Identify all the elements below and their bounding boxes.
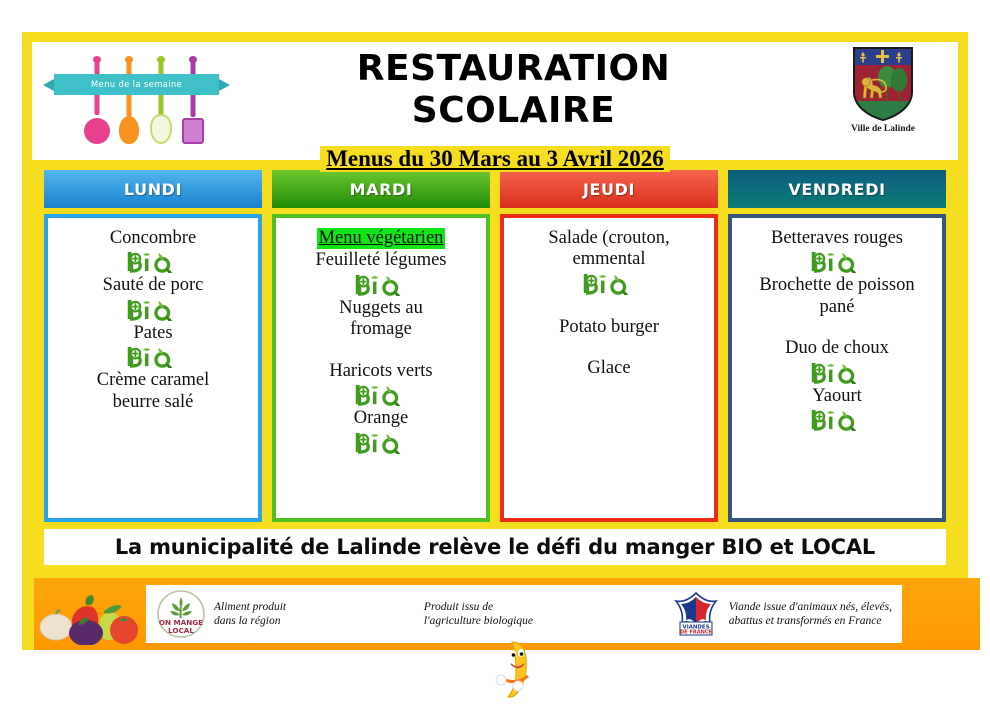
day-header-vendredi: VENDREDI <box>728 170 946 208</box>
city-name-label: Ville de Lalinde <box>851 124 915 134</box>
certification-viandes-text: Viande issue d'animaux nés, élevés, abat… <box>729 600 892 629</box>
day-header-jeudi: JEUDI <box>500 170 718 208</box>
menu-spacer <box>738 318 936 338</box>
menu-item: Glace <box>510 358 708 379</box>
title-block: RESTAURATION SCOLAIRE <box>219 42 808 133</box>
date-range: Menus du 30 Mars au 3 Avril 2026 <box>320 146 670 172</box>
bio-label-icon <box>510 272 708 295</box>
menu-item: emmental <box>510 249 708 270</box>
menu-spacer <box>510 297 708 317</box>
menu-poster: Menu de la semaine RESTAURATION SCOLAIRE… <box>22 32 968 650</box>
menu-column-lundi: ConcombreSauté de porcPatesCrème caramel… <box>44 214 262 522</box>
poster-header: Menu de la semaine RESTAURATION SCOLAIRE… <box>32 42 958 160</box>
menu-item: Potato burger <box>510 317 708 338</box>
menu-column-vendredi: Betteraves rougesBrochette de poissonpan… <box>728 214 946 522</box>
menu-column-mardi: Menu végétarienFeuilleté légumesNuggets … <box>272 214 490 522</box>
certification-viandes: VIANDES DE FRANCE Viande issue d'animaux… <box>671 589 892 639</box>
vegetables-illustration <box>34 583 146 645</box>
weekly-menu-ribbon: Menu de la semaine <box>54 74 219 95</box>
menu-item: Duo de choux <box>738 338 936 359</box>
menu-columns-row: ConcombreSauté de porcPatesCrème caramel… <box>32 214 958 522</box>
vegetarian-menu-tag: Menu végétarien <box>282 228 480 250</box>
menu-item: Crème caramel <box>54 370 252 391</box>
bio-label-icon <box>738 408 936 431</box>
bio-label-icon <box>282 383 480 406</box>
coat-of-arms-icon <box>852 46 914 122</box>
weekly-menu-logo: Menu de la semaine <box>54 48 219 148</box>
bio-label-icon <box>738 361 936 384</box>
spoon-icon <box>119 56 139 144</box>
menu-spacer <box>282 341 480 361</box>
bio-label-icon <box>282 431 480 454</box>
vegetarian-menu-label: Menu végétarien <box>317 228 446 249</box>
svg-text:DE FRANCE: DE FRANCE <box>680 630 712 636</box>
menu-item: Yaourt <box>738 386 936 407</box>
bio-label-icon <box>738 250 936 273</box>
certification-local-text: Aliment produit dans la région <box>214 600 286 629</box>
menu-item: Salade (crouton, <box>510 228 708 249</box>
slogan-banner: La municipalité de Lalinde relève le déf… <box>44 529 946 565</box>
whisk-icon <box>150 56 172 144</box>
bio-label-icon <box>54 298 252 321</box>
day-headers-row: LUNDI MARDI JEUDI VENDREDI <box>32 170 958 208</box>
menu-item: Haricots verts <box>282 361 480 382</box>
menu-spacer <box>510 338 708 358</box>
certification-local: ON MANGE LOCAL Aliment produit dans la r… <box>156 589 286 639</box>
viandes-de-france-icon: VIANDES DE FRANCE <box>671 589 721 639</box>
day-header-mardi: MARDI <box>272 170 490 208</box>
certification-bio: Produit issu de l'agriculture biologique <box>424 600 533 629</box>
menu-item: Sauté de porc <box>54 275 252 296</box>
city-crest-block: Ville de Lalinde <box>808 42 958 134</box>
menu-item: pané <box>738 297 936 318</box>
menu-column-jeudi: Salade (crouton,emmentalPotato burgerGla… <box>500 214 718 522</box>
certification-bio-text: Produit issu de l'agriculture biologique <box>424 600 533 629</box>
menu-item: Nuggets au <box>282 298 480 319</box>
page-title-line1: RESTAURATION <box>219 48 808 90</box>
ladle-icon <box>84 56 110 144</box>
menu-item: Feuilleté légumes <box>282 250 480 271</box>
menu-item: Betteraves rouges <box>738 228 936 249</box>
menu-item: Orange <box>282 408 480 429</box>
certifications-strip: ON MANGE LOCAL Aliment produit dans la r… <box>146 585 902 643</box>
menu-item: Pates <box>54 323 252 344</box>
bio-label-icon <box>54 250 252 273</box>
weekly-menu-label: Menu de la semaine <box>91 80 182 90</box>
ribbon-tail-right <box>219 79 230 91</box>
menu-item: Concombre <box>54 228 252 249</box>
menu-item: beurre salé <box>54 392 252 413</box>
on-mange-local-icon: ON MANGE LOCAL <box>156 589 206 639</box>
menu-item: Brochette de poisson <box>738 275 936 296</box>
day-header-lundi: LUNDI <box>44 170 262 208</box>
menu-item: fromage <box>282 319 480 340</box>
banana-mascot-icon <box>492 638 536 700</box>
svg-text:LOCAL: LOCAL <box>168 626 194 635</box>
date-range-wrap: Menus du 30 Mars au 3 Avril 2026 <box>32 145 958 172</box>
page-title-line2: SCOLAIRE <box>219 90 808 132</box>
bio-label-icon <box>282 273 480 296</box>
ribbon-tail-left <box>43 79 54 91</box>
spatula-icon <box>182 56 204 144</box>
bio-label-icon <box>54 345 252 368</box>
